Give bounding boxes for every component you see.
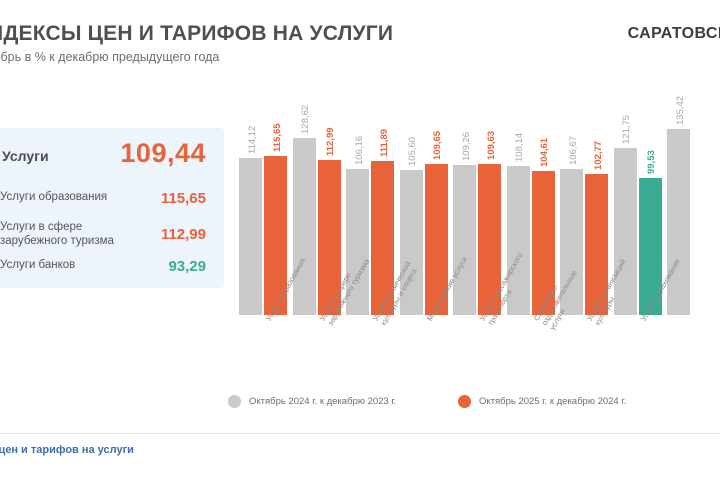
region-label: САРАТОВСК xyxy=(628,25,720,43)
legend-swatch-icon xyxy=(458,395,471,408)
summary-row-value: 112,99 xyxy=(161,226,206,243)
bar-value-label: 115,65 xyxy=(272,123,283,152)
summary-row-label: Услуги банков xyxy=(0,258,150,272)
page-title: НДЕКСЫ ЦЕН И ТАРИФОВ НА УСЛУГИ xyxy=(0,22,393,46)
page-subtitle: тябрь в % к декабрю предыдущего года xyxy=(0,50,219,64)
bar-value-label: 108,14 xyxy=(514,133,525,162)
bar-prev-year: 128,62 xyxy=(293,138,316,315)
summary-row: Услуги в сфере зарубежного туризма 112,9… xyxy=(0,220,206,238)
legend-item-curr: Октябрь 2025 г. к декабрю 2024 г. xyxy=(458,393,626,409)
summary-main-value: 109,44 xyxy=(120,138,206,169)
bar-value-label: 109,65 xyxy=(432,131,443,160)
bar-value-label: 109,63 xyxy=(486,131,497,160)
bar-value-label: 111,89 xyxy=(379,129,390,157)
bar-value-label: 135,42 xyxy=(675,96,686,125)
bar-value-label: 104,61 xyxy=(539,138,550,167)
summary-row-label: Услуги в сфере зарубежного туризма xyxy=(0,220,150,248)
bar-chart: 114,12115,65128,62112,99106,16111,89105,… xyxy=(228,120,720,380)
bar-value-label: 99,53 xyxy=(646,150,657,174)
summary-main-label: Услуги xyxy=(2,148,49,164)
summary-row: Услуги образования 115,65 xyxy=(0,190,206,208)
bar-value-label: 112,99 xyxy=(325,127,336,156)
bar-value-label: 121,75 xyxy=(621,115,632,144)
summary-panel: Услуги 109,44 Услуги образования 115,65 … xyxy=(0,128,224,288)
summary-row: Услуги банков 93,29 xyxy=(0,258,206,276)
bar-prev-year: 135,42 xyxy=(667,129,690,315)
bar-value-label: 106,67 xyxy=(568,136,579,165)
legend-label: Октябрь 2025 г. к декабрю 2024 г. xyxy=(479,396,626,407)
summary-row-label: Услуги образования xyxy=(0,190,150,204)
chart-plot-area: 114,12115,65128,62112,99106,16111,89105,… xyxy=(228,120,720,315)
footer-divider xyxy=(0,433,720,434)
chart-legend: Октябрь 2024 г. к декабрю 2023 г. Октябр… xyxy=(228,393,708,413)
legend-item-prev: Октябрь 2024 г. к декабрю 2023 г. xyxy=(228,393,396,409)
bar-value-label: 106,16 xyxy=(354,136,365,165)
footer-caption: ы цен и тарифов на услуги xyxy=(0,444,134,456)
legend-label: Октябрь 2024 г. к декабрю 2023 г. xyxy=(249,396,396,407)
bar-value-label: 114,12 xyxy=(247,126,258,154)
bar-prev-year: 109,26 xyxy=(453,165,476,315)
bar-value-label: 109,26 xyxy=(461,132,472,161)
summary-row-value: 115,65 xyxy=(161,190,206,207)
bar-value-label: 105,60 xyxy=(407,137,418,166)
legend-swatch-icon xyxy=(228,395,241,408)
bar-value-label: 102,77 xyxy=(593,141,604,170)
bar-prev-year: 114,12 xyxy=(239,158,262,315)
bar-value-label: 128,62 xyxy=(300,105,311,134)
summary-row-value: 93,29 xyxy=(168,258,206,275)
